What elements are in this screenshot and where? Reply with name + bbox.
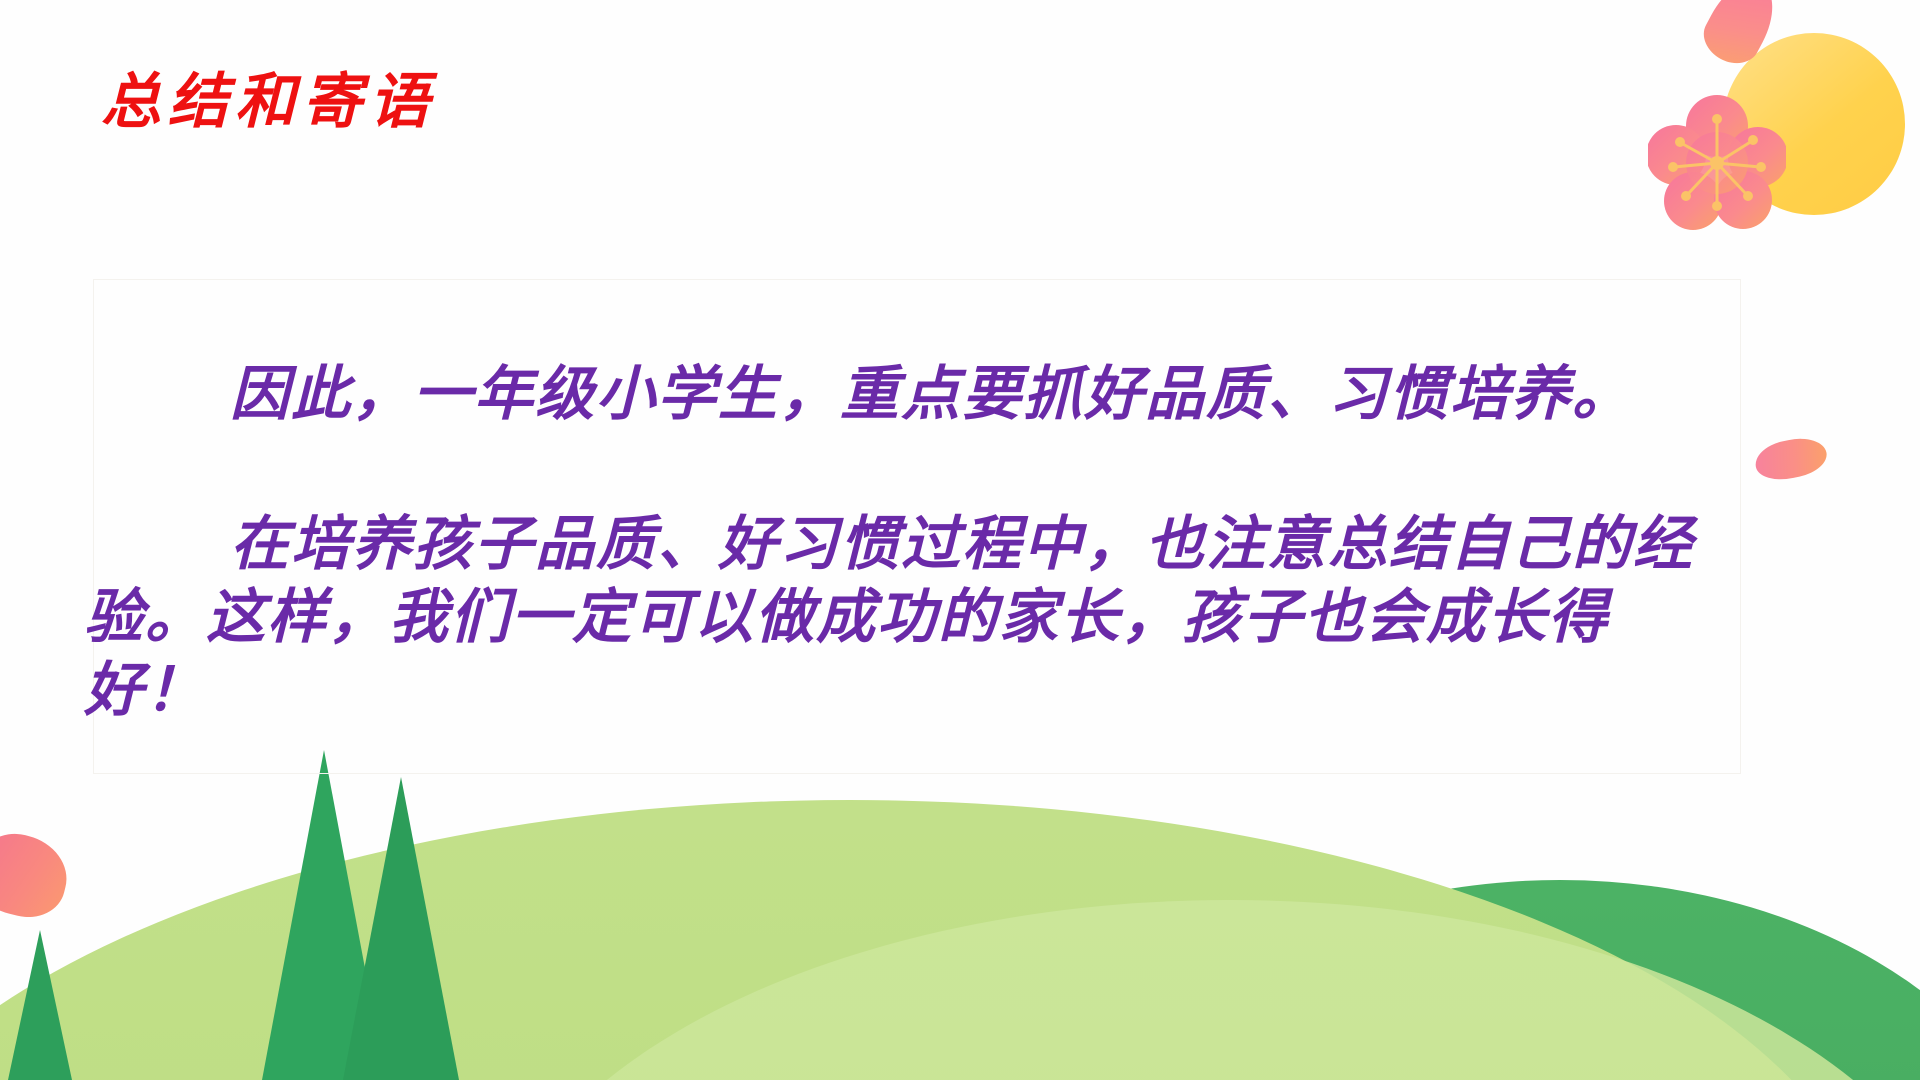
- pine-tree-shape-2: [343, 777, 459, 1080]
- light-green-hill-shape-secondary: [480, 900, 1920, 1080]
- body-paragraph-1: 因此，一年级小学生，重点要抓好品质、习惯培养。: [112, 358, 1722, 431]
- content-text-box: 因此，一年级小学生，重点要抓好品质、习惯培养。 在培养孩子品质、好习惯过程中，也…: [93, 279, 1741, 774]
- body-paragraph-2: 在培养孩子品质、好习惯过程中，也注意总结自己的经验。这样，我们一定可以做成功的家…: [84, 508, 1724, 727]
- plum-blossom-flower-icon: [1648, 95, 1786, 230]
- dark-green-hill-shape: [1060, 880, 1920, 1080]
- slide-canvas: 总结和寄语 因此，一年级小学生，重点要抓好品质、习惯培养。 在培养孩子品质、好习…: [0, 0, 1920, 1080]
- page-title: 总结和寄语: [101, 72, 436, 132]
- petal-shape-bottom-left: [0, 825, 75, 926]
- light-green-hill-shape: [0, 800, 1880, 1080]
- petal-shape-top: [1695, 0, 1787, 73]
- yellow-circle-shape: [1723, 33, 1905, 215]
- pine-tree-shape-3: [8, 930, 72, 1080]
- pine-tree-shape-1: [262, 750, 386, 1080]
- petal-shape-right: [1752, 433, 1830, 485]
